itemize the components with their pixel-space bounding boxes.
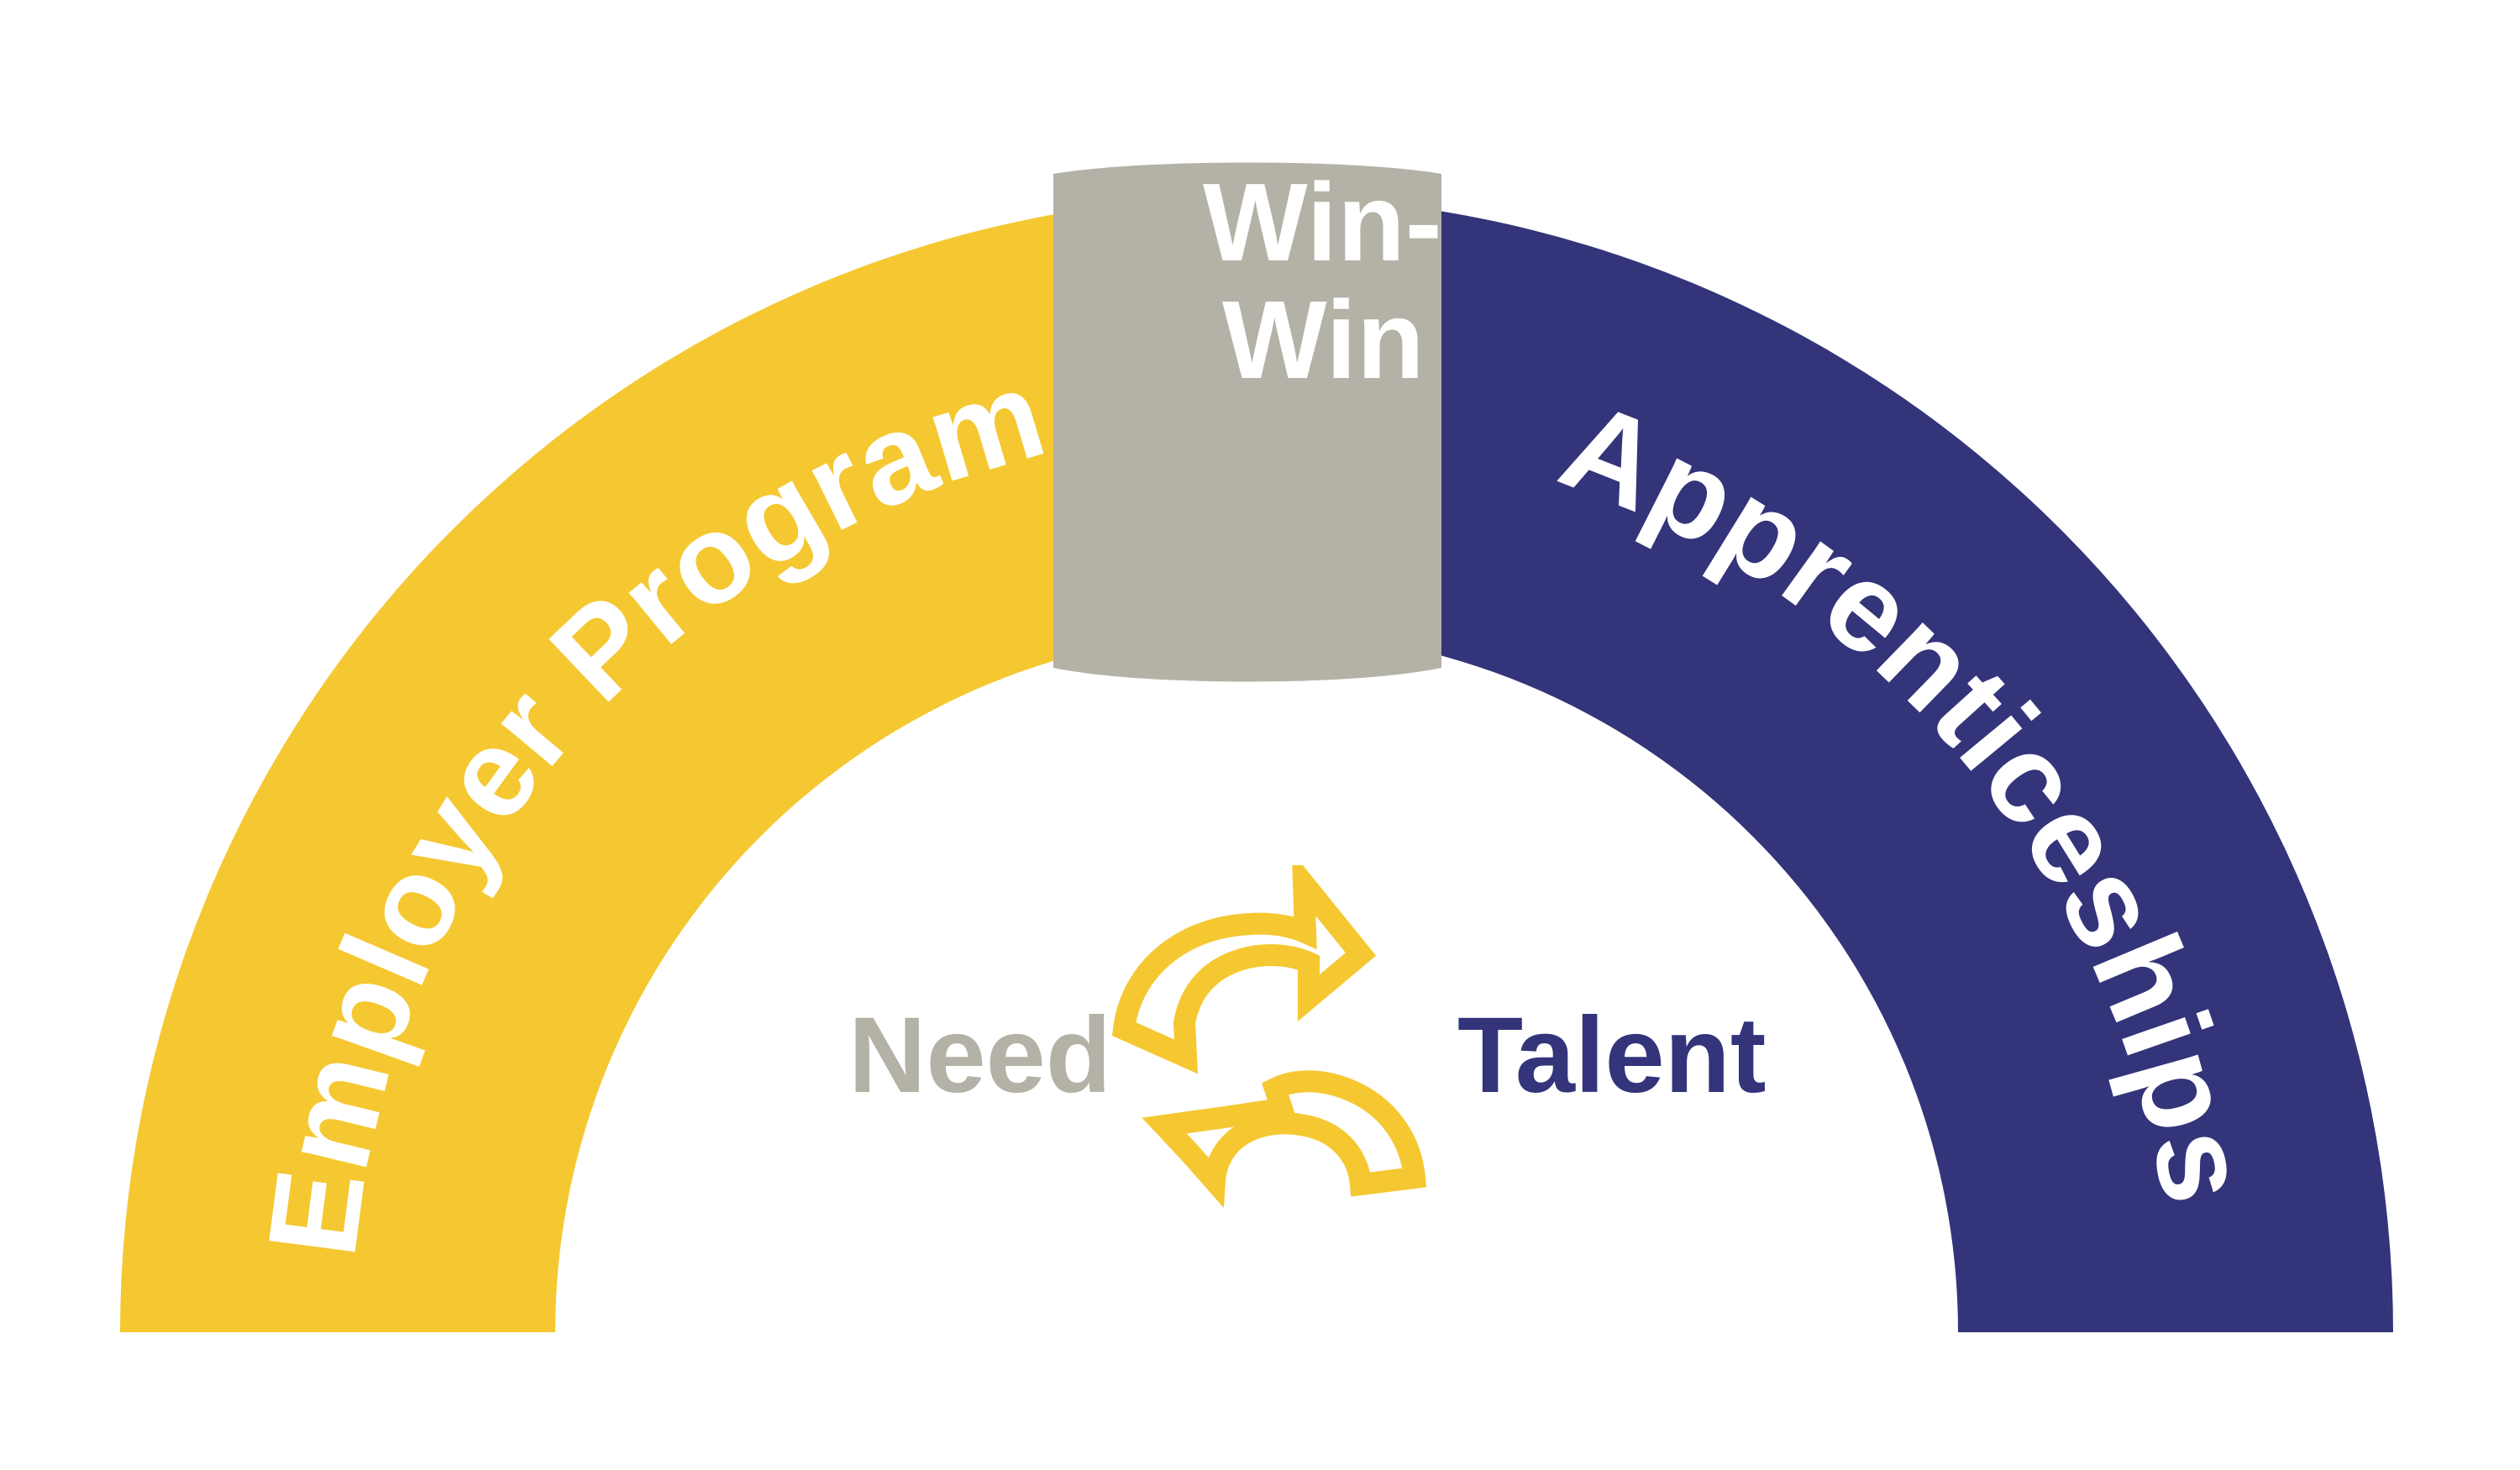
exchange-arrows-primary [1109,865,1478,1285]
diagram-canvas: Employer Program Apprenticeships Win- Wi… [0,0,2520,1470]
segment-employer-program[interactable]: Employer Program [0,0,1059,1470]
segment-win-win-keystone[interactable]: Win- Win [1053,160,1442,682]
center-need-label: Need [848,995,1111,1116]
keystone-label-line2: Win [1222,278,1425,402]
exchange-arrow-upper-shape [1124,884,1361,1057]
center-talent-label: Talent [1457,995,1766,1116]
segment-apprenticeships[interactable]: Apprenticeships [1440,0,2520,1470]
exchange-arrow-lower-shape [1164,1081,1415,1184]
exchange-arrows-strokes [1124,884,1415,1184]
keystone-label-line1: Win- [1203,160,1442,284]
